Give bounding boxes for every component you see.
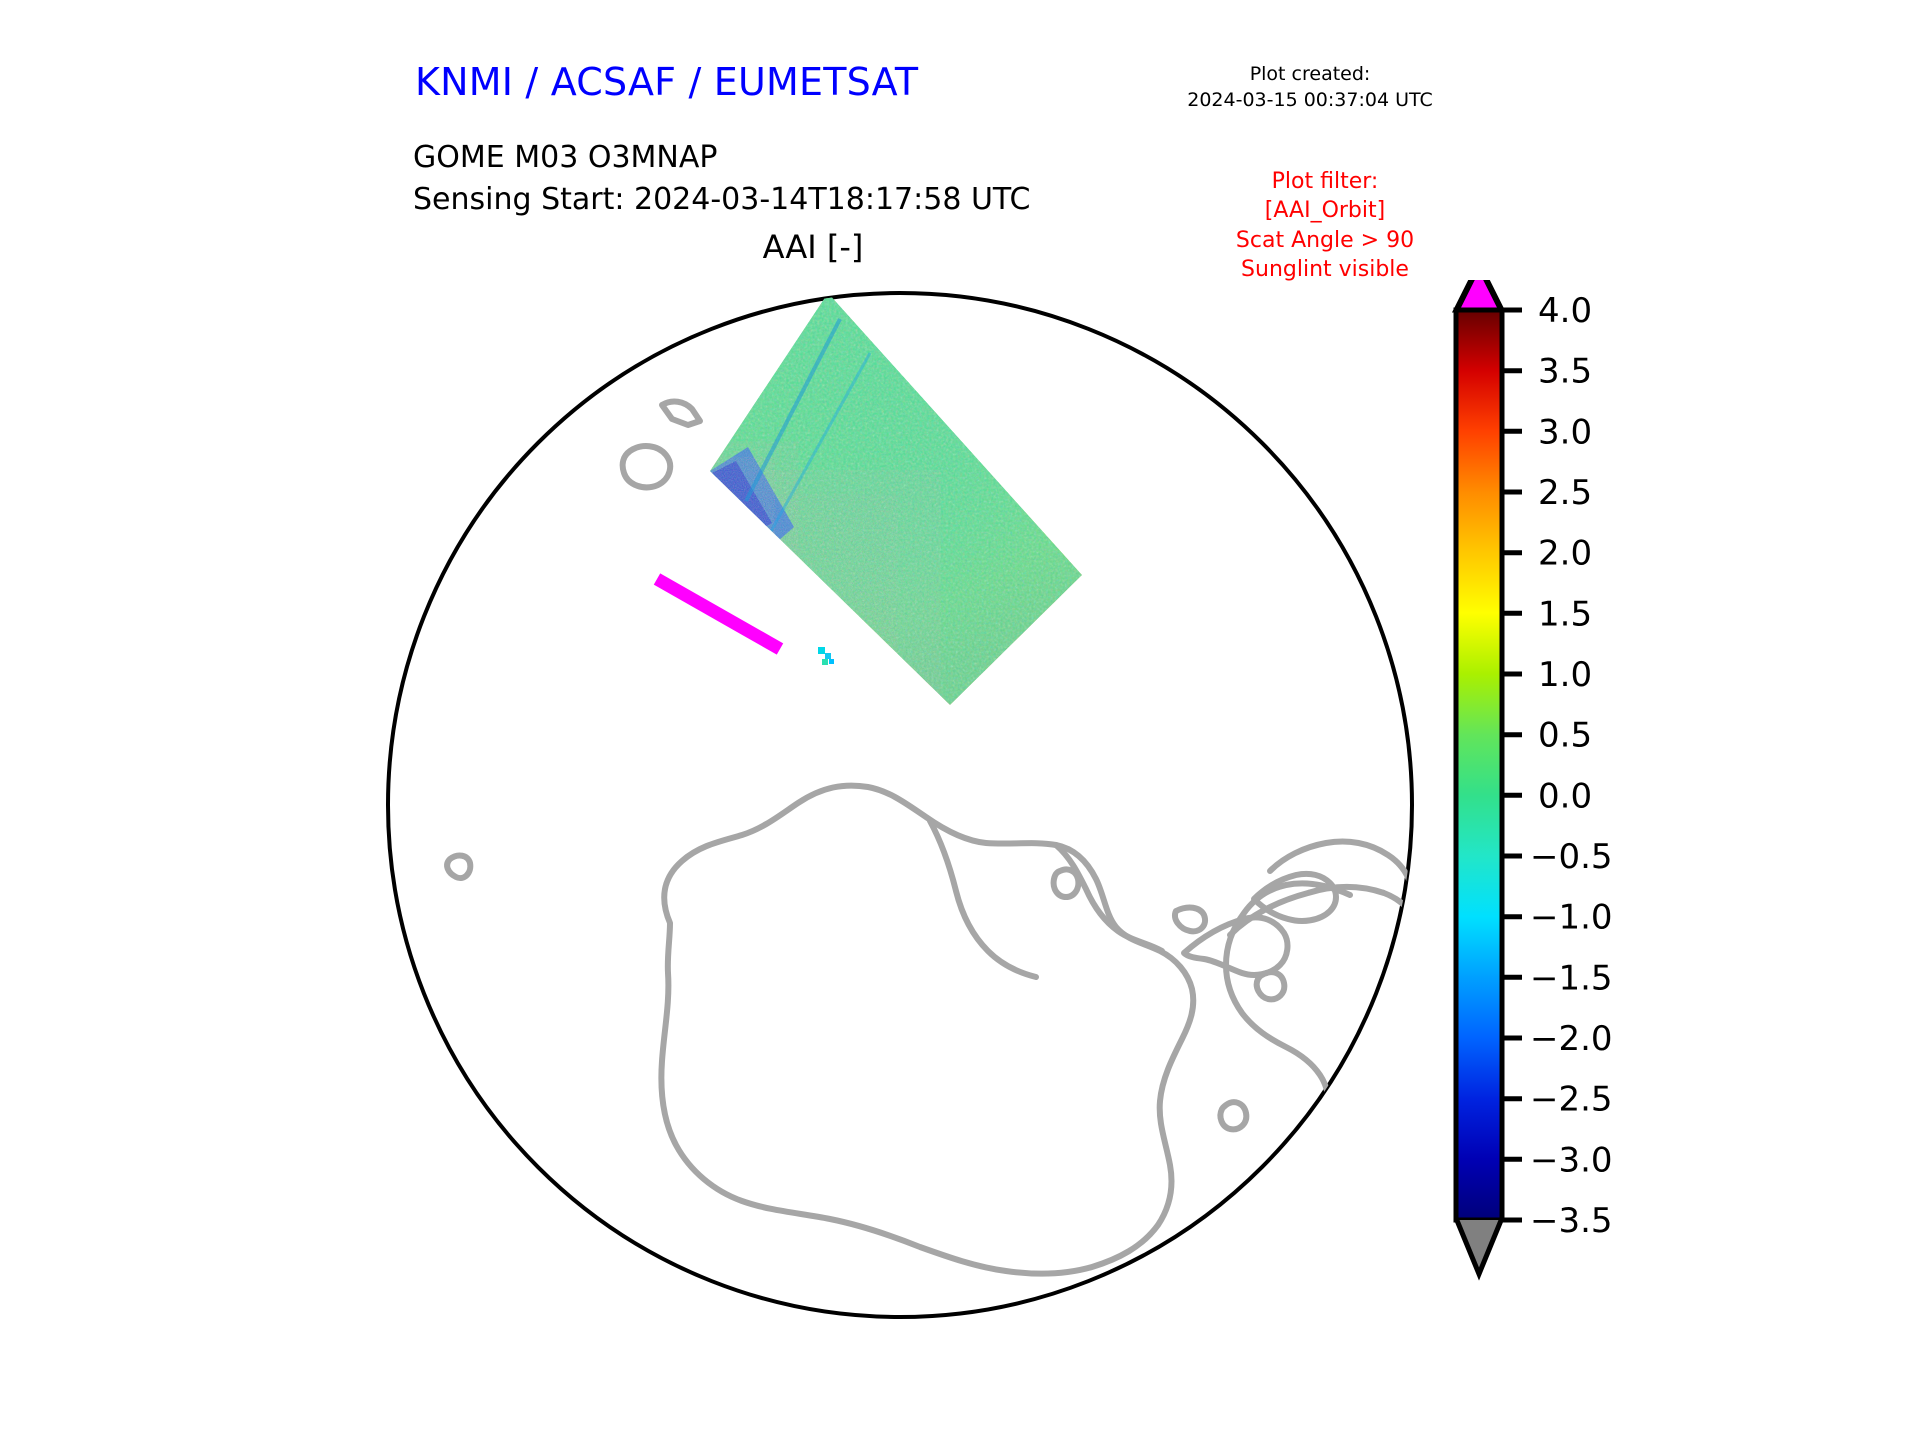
plot-created-label: Plot created:: [1165, 62, 1455, 88]
colorbar-tick-label: −3.5: [1530, 1201, 1613, 1241]
colorbar: 4.0 3.5 3.0 2.5 2.0 1.5 1.0 0.5 0.0 −0.5…: [1440, 280, 1740, 1310]
colorbar-tick-label: 0.5: [1538, 716, 1592, 756]
colorbar-tick-label: −1.0: [1530, 898, 1613, 938]
colorbar-tick-label: 3.5: [1538, 352, 1592, 392]
island-upper-left-a: [544, 372, 588, 404]
colorbar-tick-label: −2.0: [1530, 1019, 1613, 1059]
colorbar-svg: 4.0 3.5 3.0 2.5 2.0 1.5 1.0 0.5 0.0 −0.5…: [1440, 280, 1740, 1310]
plot-canvas: KNMI / ACSAF / EUMETSAT Plot created: 20…: [0, 0, 1920, 1440]
colorbar-tick-label: 1.0: [1538, 655, 1592, 695]
plot-filter-label: Plot filter:: [1180, 167, 1470, 196]
dataset-title: GOME M03 O3MNAP: [413, 140, 717, 175]
variable-title: AAI [-]: [413, 228, 1213, 266]
organisations-title: KNMI / ACSAF / EUMETSAT: [415, 60, 918, 104]
plot-filter-scat-angle: Scat Angle > 90: [1180, 226, 1470, 255]
polar-map: [370, 275, 1430, 1335]
colorbar-tick-label: 2.0: [1538, 534, 1592, 574]
colorbar-tick-label: 0.0: [1538, 776, 1592, 816]
colorbar-tick-label: −0.5: [1530, 837, 1613, 877]
colorbar-tick-label: −1.5: [1530, 958, 1613, 998]
colorbar-ticks: [1502, 310, 1522, 1220]
colorbar-tick-label: 2.5: [1538, 473, 1592, 513]
colorbar-tick-label: 4.0: [1538, 291, 1592, 331]
colorbar-tick-label: −3.0: [1530, 1140, 1613, 1180]
plot-created-timestamp: 2024-03-15 00:37:04 UTC: [1165, 88, 1455, 114]
plot-created-block: Plot created: 2024-03-15 00:37:04 UTC: [1165, 62, 1455, 113]
colorbar-gradient: [1456, 310, 1502, 1220]
sensing-start-text: Sensing Start: 2024-03-14T18:17:58 UTC: [413, 182, 1030, 217]
colorbar-tick-label: 3.0: [1538, 412, 1592, 452]
map-svg: [370, 275, 1430, 1335]
colorbar-tick-label: −2.5: [1530, 1080, 1613, 1120]
colorbar-under-arrow-fill: [1456, 1220, 1502, 1274]
colorbar-tick-label: 1.5: [1538, 594, 1592, 634]
plot-filter-variable: [AAI_Orbit]: [1180, 196, 1470, 225]
plot-filter-block: Plot filter: [AAI_Orbit] Scat Angle > 90…: [1180, 167, 1470, 284]
colorbar-tick-labels: 4.0 3.5 3.0 2.5 2.0 1.5 1.0 0.5 0.0 −0.5…: [1530, 291, 1613, 1241]
